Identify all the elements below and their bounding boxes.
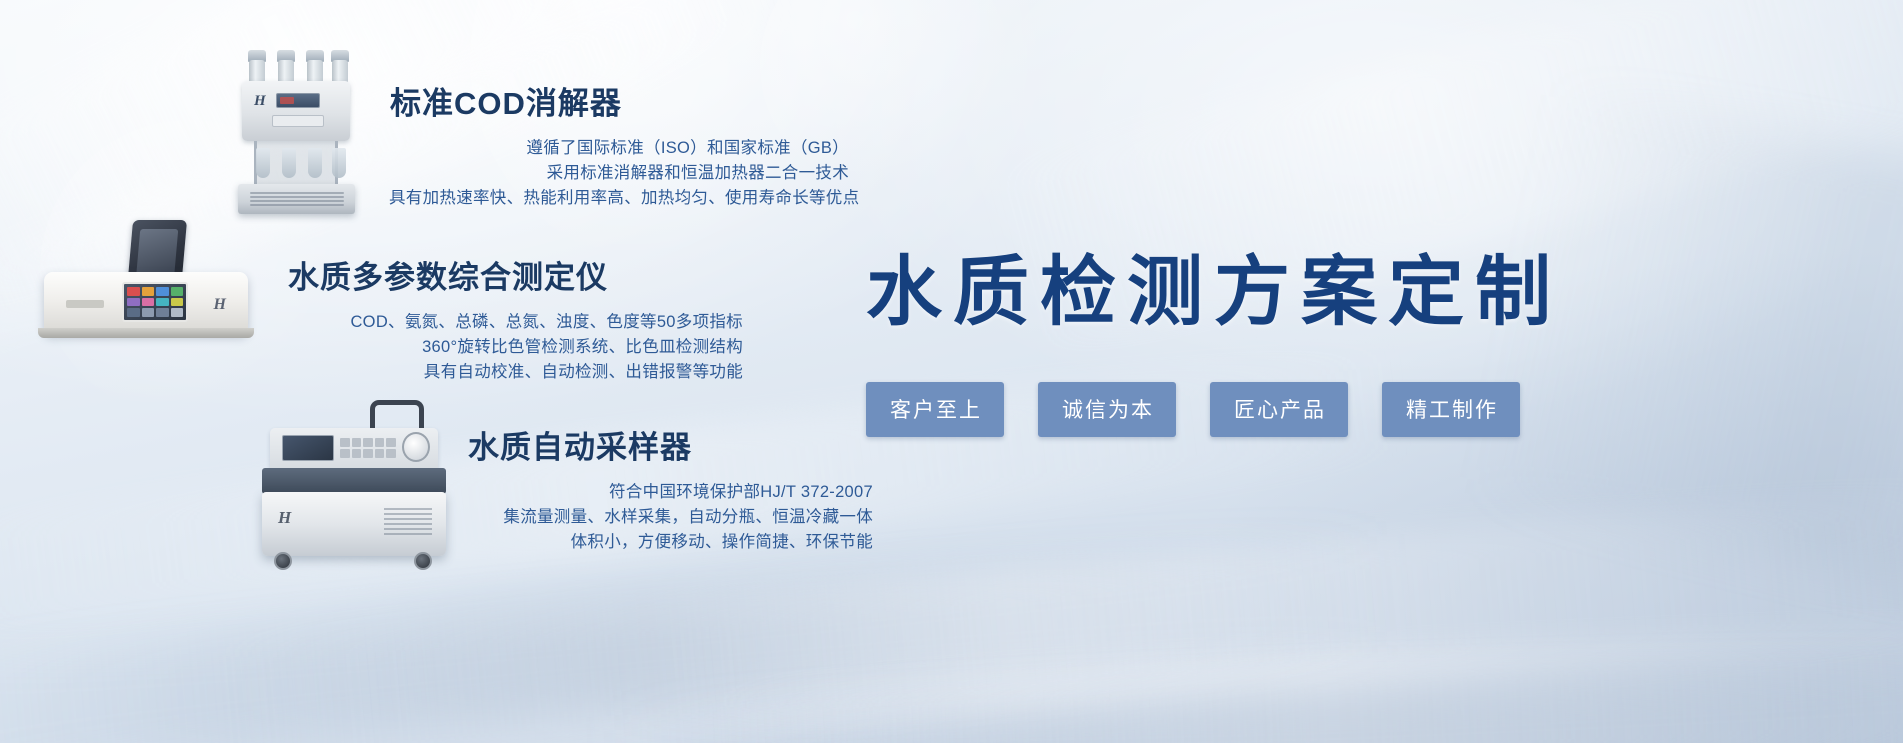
- product-description-line: 360°旋转比色管检测系统、比色皿检测结构: [288, 335, 743, 360]
- tag-craftsmanship[interactable]: 匠心产品: [1210, 382, 1348, 437]
- tag-integrity[interactable]: 诚信为本: [1038, 382, 1176, 437]
- product-description-line: 采用标准消解器和恒温加热器二合一技术: [389, 161, 849, 186]
- product-description-line: 具有加热速率快、热能利用率高、加热均匀、使用寿命长等优点: [389, 186, 849, 211]
- product-block-cod-digester: 标准COD消解器 遵循了国际标准（ISO）和国家标准（GB） 采用标准消解器和恒…: [390, 78, 849, 211]
- water-auto-sampler-image: H: [246, 400, 456, 580]
- product-block-water-auto-sampler: 水质自动采样器 符合中国环境保护部HJ/T 372-2007 集流量测量、水样采…: [468, 422, 873, 555]
- cod-digester-image: H: [236, 48, 358, 215]
- background-shade: [0, 535, 1402, 743]
- product-description-line: 具有自动校准、自动检测、出错报警等功能: [288, 360, 743, 385]
- product-title: 水质多参数综合测定仪: [288, 252, 743, 297]
- product-description: COD、氨氮、总磷、总氮、浊度、色度等50多项指标 360°旋转比色管检测系统、…: [288, 310, 743, 385]
- product-description-line: 遵循了国际标准（ISO）和国家标准（GB）: [389, 136, 849, 161]
- background-shade: [1464, 82, 1903, 638]
- product-description-line: 体积小，方便移动、操作简捷、环保节能: [468, 530, 873, 555]
- background-shade: [598, 664, 1903, 743]
- background-streak: [698, 613, 1903, 743]
- product-block-multi-parameter-analyzer: 水质多参数综合测定仪 COD、氨氮、总磷、总氮、浊度、色度等50多项指标 360…: [288, 252, 743, 385]
- tag-customer-first[interactable]: 客户至上: [866, 382, 1004, 437]
- tag-row: 客户至上 诚信为本 匠心产品 精工制作: [866, 382, 1520, 437]
- banner-root: H H: [0, 0, 1903, 743]
- hero-title: 水质检测方案定制: [866, 230, 1562, 340]
- product-description-line: 集流量测量、水样采集，自动分瓶、恒温冷藏一体: [468, 505, 873, 530]
- product-description: 符合中国环境保护部HJ/T 372-2007 集流量测量、水样采集，自动分瓶、恒…: [468, 480, 873, 555]
- multi-parameter-analyzer-image: H: [30, 220, 260, 345]
- product-description-line: COD、氨氮、总磷、总氮、浊度、色度等50多项指标: [288, 310, 743, 335]
- tag-fine-production[interactable]: 精工制作: [1382, 382, 1520, 437]
- product-description-line: 符合中国环境保护部HJ/T 372-2007: [468, 480, 873, 505]
- product-title: 水质自动采样器: [468, 422, 873, 467]
- product-title: 标准COD消解器: [390, 78, 849, 123]
- product-description: 遵循了国际标准（ISO）和国家标准（GB） 采用标准消解器和恒温加热器二合一技术…: [389, 136, 849, 211]
